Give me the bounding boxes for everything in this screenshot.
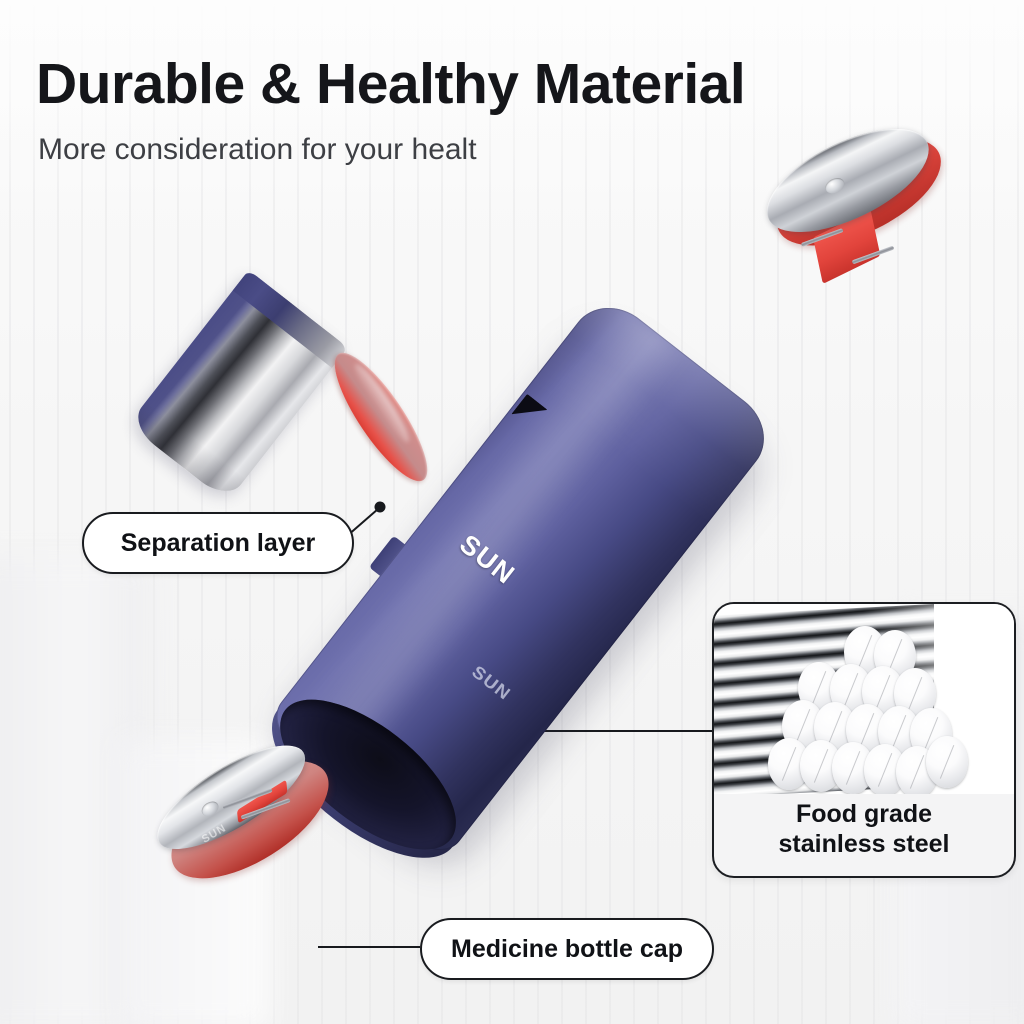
steel-label-line-1: Food grade [714,800,1014,830]
callout-medicine-bottle-cap[interactable]: Medicine bottle cap [420,918,714,980]
bottle-cap-top-right-part [745,175,985,390]
bottle-cap-bottom-left-part: SUN [135,815,385,1015]
stainless-steel-rods-image [714,604,1014,794]
cap-button-dimple [199,798,221,819]
steel-rod [926,736,968,788]
callout-medicine-bottle-cap-label: Medicine bottle cap [451,935,683,964]
page-subtitle: More consideration for your healt [38,133,477,166]
page-title: Durable & Healthy Material [36,56,745,113]
callout-food-grade-stainless-steel[interactable]: Food grade stainless steel [712,602,1016,878]
callout-food-grade-stainless-steel-label: Food grade stainless steel [714,800,1014,859]
cap-button-dimple [823,175,847,196]
callout-separation-layer[interactable]: Separation layer [82,512,354,574]
brand-logo-side: SUN [467,662,514,705]
callout-separation-layer-label: Separation layer [121,529,316,558]
product-feature-graphic: Durable & Healthy Material More consider… [0,0,1024,1024]
steel-label-line-2: stainless steel [714,830,1014,860]
